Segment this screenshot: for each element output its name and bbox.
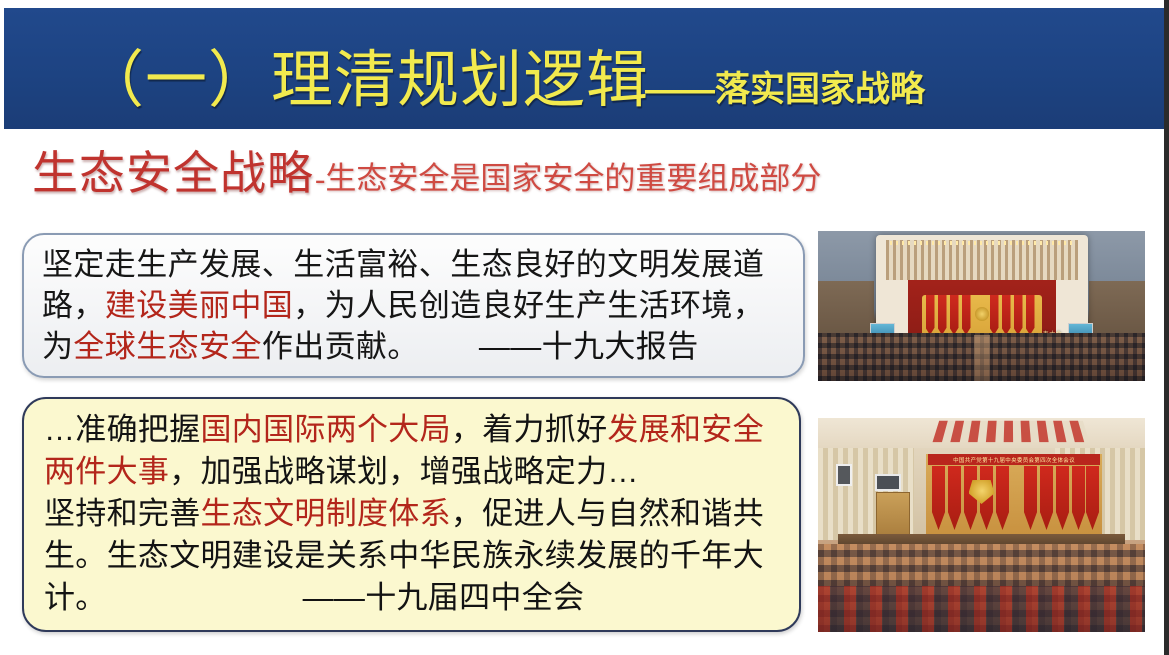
congress-center-aisle (974, 335, 990, 381)
quote-box-nineteenth-congress: 坚定走生产发展、生活富裕、生态良好的文明发展道路，建设美丽中国，为人民创造良好生… (22, 233, 805, 378)
congress-party-emblem-icon (975, 307, 989, 321)
slide-right-edge (1164, 0, 1169, 655)
plenum-door (876, 492, 910, 540)
plenum-red-chairs (818, 586, 1145, 632)
plenum-red-flags (930, 466, 1098, 536)
quote2-highlight-3: 生态文明制度体系 (201, 496, 451, 531)
plenum-banner-text: 中国共产党第十九届中央委员会第四次全体会议 (928, 454, 1100, 465)
quote2-line3-a: 坚持和完善 (44, 496, 201, 531)
quote1-line1: 坚定走生产发展、生活富裕、生态良好的文明发展 (42, 247, 733, 282)
quote1-line2-b: ，为人民创造良好生产生活环境， (293, 288, 764, 323)
quote-text-2: …准确把握国内国际两个大局，着力抓好发展和安全两件大事，加强战略谋划，增强战略定… (44, 409, 787, 619)
congress-ceiling-lights (890, 241, 1074, 245)
quote2-line2-b: ，加强战略谋划，增强战略定力… (169, 454, 639, 489)
section-heading: 生态安全战略 -生态安全是国家安全的重要组成部分 (32, 148, 821, 200)
plenum-wall-screen (875, 474, 901, 491)
slide-left-edge (0, 0, 4, 655)
title-banner: （一）理清规划逻辑 ——落实国家战略 (4, 8, 1165, 129)
quote1-line3-a: 为 (42, 329, 73, 364)
photo-nineteenth-congress: 中国共产党第十九次全国代表大会 (818, 231, 1145, 381)
quote2-highlight-1: 国内国际两个大局 (201, 412, 451, 447)
quote-text-1: 坚定走生产发展、生活富裕、生态良好的文明发展道路，建设美丽中国，为人民创造良好生… (42, 244, 789, 367)
quote2-highlight-2a: 发展和安 (607, 412, 732, 447)
quote2-line1-b: ，着力抓好 (451, 412, 608, 447)
quote2-line1-a: …准确把握 (44, 412, 201, 447)
quote1-attribution: ——十九大报告 (479, 329, 699, 364)
quote1-highlight-2: 全球生态安全 (73, 329, 261, 364)
quote-box-fourth-plenum: …准确把握国内国际两个大局，着力抓好发展和安全两件大事，加强战略谋划，增强战略定… (22, 397, 801, 632)
plenum-wall-monitor (836, 464, 852, 486)
slide-top-edge (0, 0, 1169, 8)
page-title: （一）理清规划逻辑 (82, 49, 649, 113)
plenum-ceiling-panel (933, 421, 1090, 442)
section-heading-main: 生态安全战略 (32, 148, 314, 200)
section-heading-rest: -生态安全是国家安全的重要组成部分 (315, 161, 821, 197)
congress-ceiling-grid (886, 240, 1078, 280)
title-row: （一）理清规划逻辑 ——落实国家战略 (82, 49, 925, 113)
quote2-attribution: ——十九届四中全会 (303, 580, 585, 615)
quote1-highlight-1: 建设美丽中国 (105, 288, 293, 323)
photo-fourth-plenary-session: 中国共产党第十九届中央委员会第四次全体会议 (818, 418, 1145, 632)
quote2-line3-b: ，促进人与自然和谐 (451, 496, 733, 531)
quote1-line3-b: 作出贡献。 (262, 329, 419, 364)
slide-canvas: （一）理清规划逻辑 ——落实国家战略 生态安全战略 -生态安全是国家安全的重要组… (0, 0, 1169, 655)
page-subtitle-inline: ——落实国家战略 (645, 70, 925, 113)
